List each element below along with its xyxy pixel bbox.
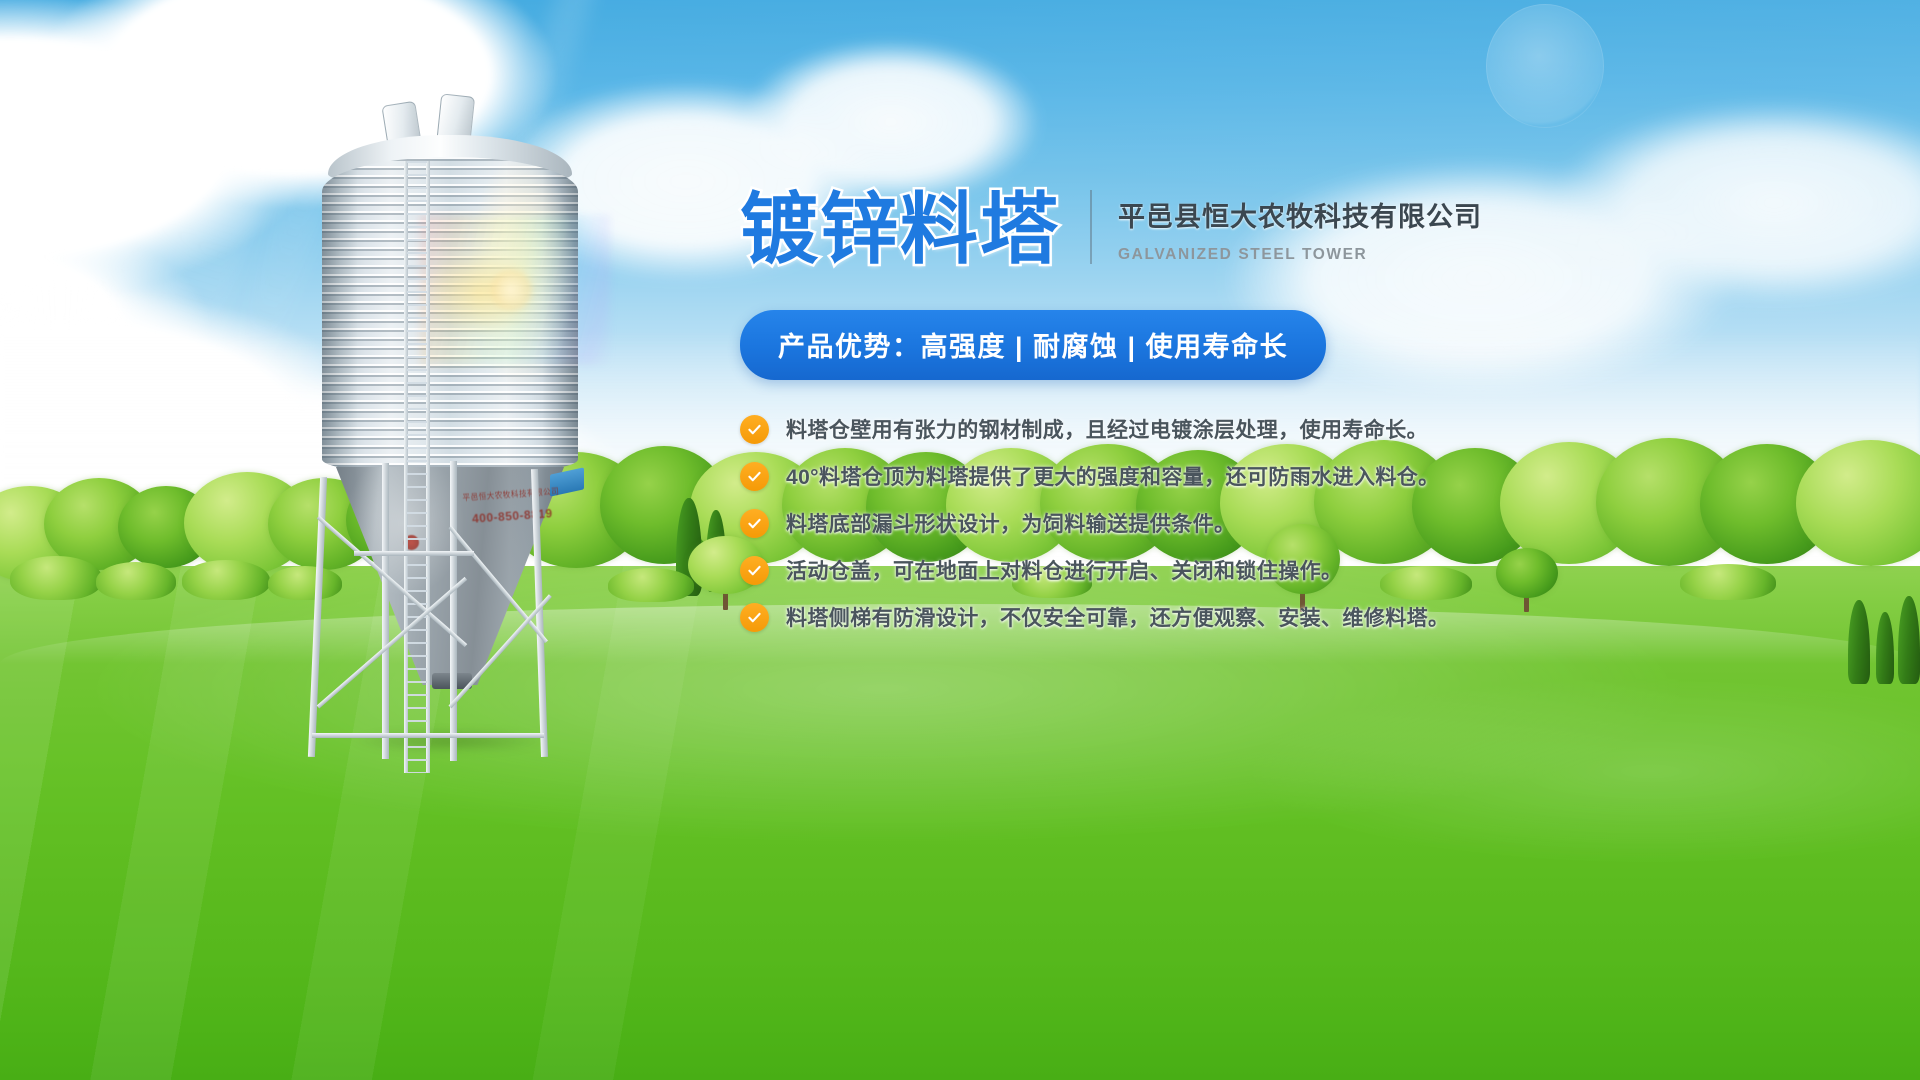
company-name-cn: 平邑县恒大农牧科技有限公司 <box>1118 195 1482 234</box>
page-title: 镀锌料塔 <box>740 190 1060 268</box>
company-name-en: GALVANIZED STEEL TOWER <box>1118 246 1482 264</box>
title-divider <box>1090 190 1092 264</box>
feature-list: 料塔仓壁用有张力的钢材制成，且经过电镀涂层处理，使用寿命长。 40°料塔仓顶为料… <box>740 414 1860 632</box>
list-item: 活动仓盖，可在地面上对料仓进行开启、关闭和锁住操作。 <box>740 555 1860 585</box>
lens-flare-dot <box>488 267 534 313</box>
check-circle-icon <box>740 603 769 632</box>
cross-brace <box>317 577 468 709</box>
leg-crossbar <box>354 551 474 556</box>
check-circle-icon <box>740 556 769 585</box>
check-circle-icon <box>740 509 769 538</box>
bush <box>96 562 176 600</box>
feature-text: 料塔底部漏斗形状设计，为饲料输送提供条件。 <box>786 508 1235 538</box>
conifer-tree <box>1876 612 1894 684</box>
conifer-tree <box>1898 596 1920 684</box>
bush <box>608 568 694 602</box>
feature-text: 料塔仓壁用有张力的钢材制成，且经过电镀涂层处理，使用寿命长。 <box>786 414 1428 444</box>
feature-text: 料塔侧梯有防滑设计，不仅安全可靠，还方便观察、安装、维修料塔。 <box>786 602 1449 632</box>
feature-text: 活动仓盖，可在地面上对料仓进行开启、关闭和锁住操作。 <box>786 555 1342 585</box>
silo-shading <box>322 157 578 475</box>
banner-copy: 镀锌料塔 平邑县恒大农牧科技有限公司 GALVANIZED STEEL TOWE… <box>740 190 1860 649</box>
check-circle-icon <box>740 462 769 491</box>
bush <box>182 560 270 600</box>
check-circle-icon <box>740 415 769 444</box>
bush <box>10 556 102 600</box>
support-leg <box>382 463 389 759</box>
list-item: 料塔侧梯有防滑设计，不仅安全可靠，还方便观察、安装、维修料塔。 <box>740 602 1860 632</box>
list-item: 料塔仓壁用有张力的钢材制成，且经过电镀涂层处理，使用寿命长。 <box>740 414 1860 444</box>
leg-crossbar <box>312 733 544 738</box>
list-item: 料塔底部漏斗形状设计，为饲料输送提供条件。 <box>740 508 1860 538</box>
title-row: 镀锌料塔 平邑县恒大农牧科技有限公司 GALVANIZED STEEL TOWE… <box>740 190 1860 268</box>
support-leg <box>450 461 457 761</box>
list-item: 40°料塔仓顶为料塔提供了更大的强度和容量，还可防雨水进入料仓。 <box>740 461 1860 491</box>
silo-support-legs <box>300 455 600 755</box>
feature-text: 40°料塔仓顶为料塔提供了更大的强度和容量，还可防雨水进入料仓。 <box>786 461 1440 491</box>
company-block: 平邑县恒大农牧科技有限公司 GALVANIZED STEEL TOWER <box>1118 195 1482 268</box>
banner-stage: 平邑恒大农牧科技有限公司 400-850-8819 镀锌料塔 <box>0 0 1920 1080</box>
cross-brace <box>317 515 468 647</box>
silo-cylinder <box>322 157 578 475</box>
galvanized-silo: 平邑恒大农牧科技有限公司 400-850-8819 <box>300 95 600 755</box>
advantages-badge[interactable]: 产品优势：高强度 | 耐腐蚀 | 使用寿命长 <box>740 310 1326 380</box>
